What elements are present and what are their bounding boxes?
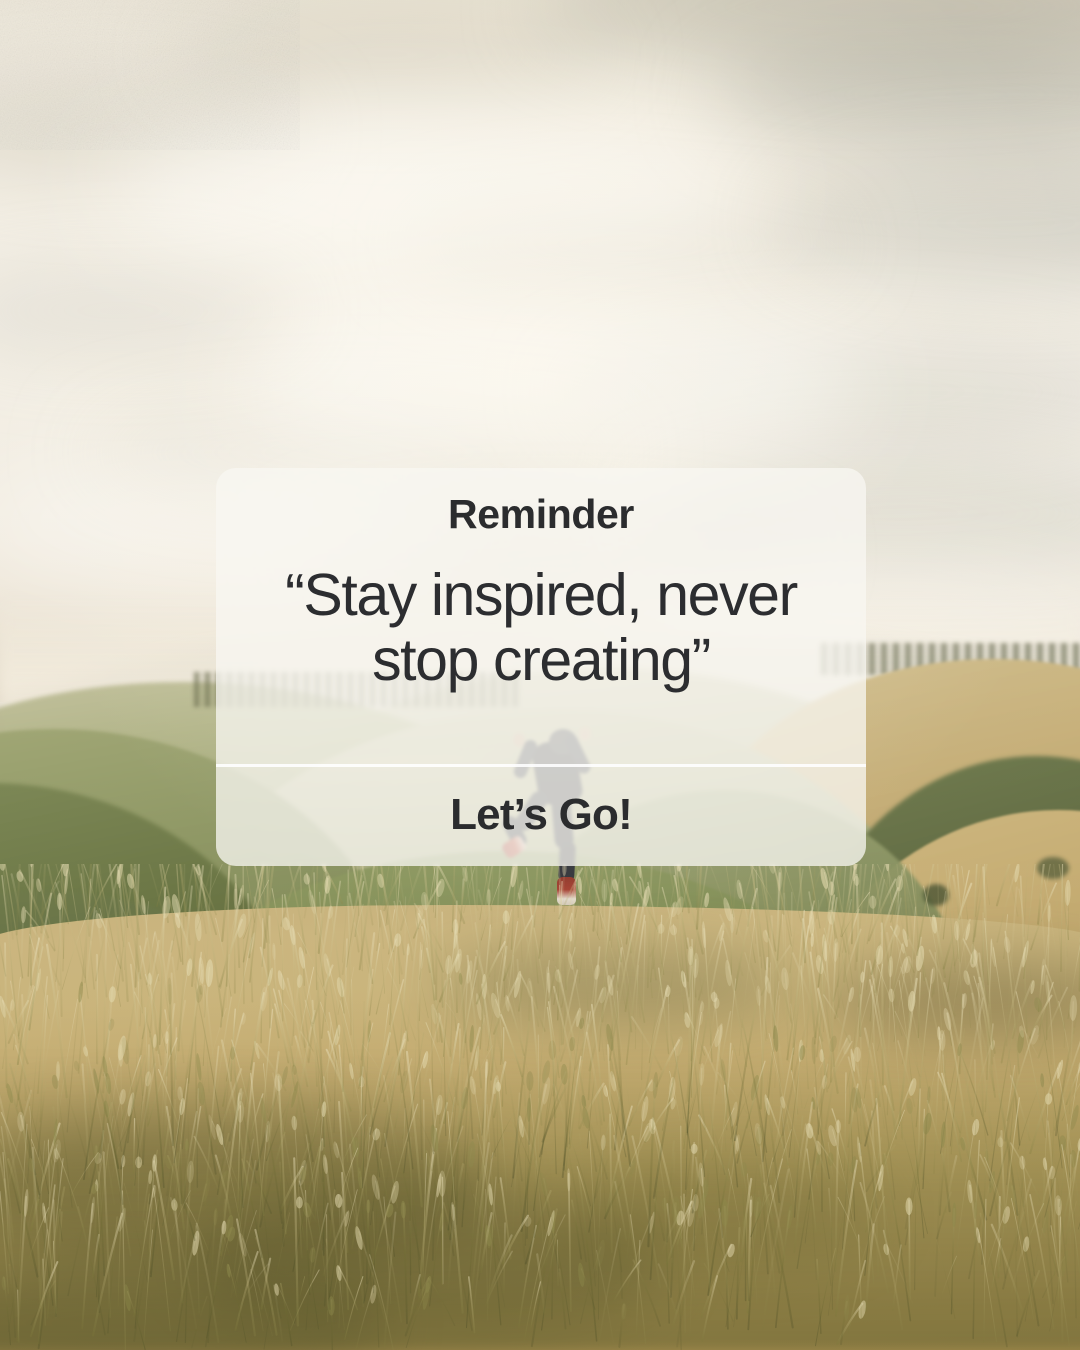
- cloud-highlight: [108, 108, 756, 270]
- field-shadow-patch: [432, 952, 799, 1020]
- card-eyebrow-label: Reminder: [448, 494, 634, 535]
- bush: [1037, 857, 1069, 879]
- card-cta-label[interactable]: Let’s Go!: [450, 793, 632, 837]
- field-green-understory: [0, 1053, 1080, 1350]
- card-quote-text: “Stay inspired, never stop creating”: [275, 563, 807, 694]
- cloud-wisp: [173, 14, 605, 95]
- card-bottom-section: Let’s Go!: [216, 767, 866, 866]
- quote-card-poster: Reminder “Stay inspired, never stop crea…: [0, 0, 1080, 1350]
- figure-shoe-front: [557, 877, 576, 905]
- cloud-highlight: [238, 297, 864, 473]
- card-top-section: Reminder “Stay inspired, never stop crea…: [216, 468, 866, 764]
- reminder-card: Reminder “Stay inspired, never stop crea…: [216, 468, 866, 866]
- bush: [923, 884, 949, 906]
